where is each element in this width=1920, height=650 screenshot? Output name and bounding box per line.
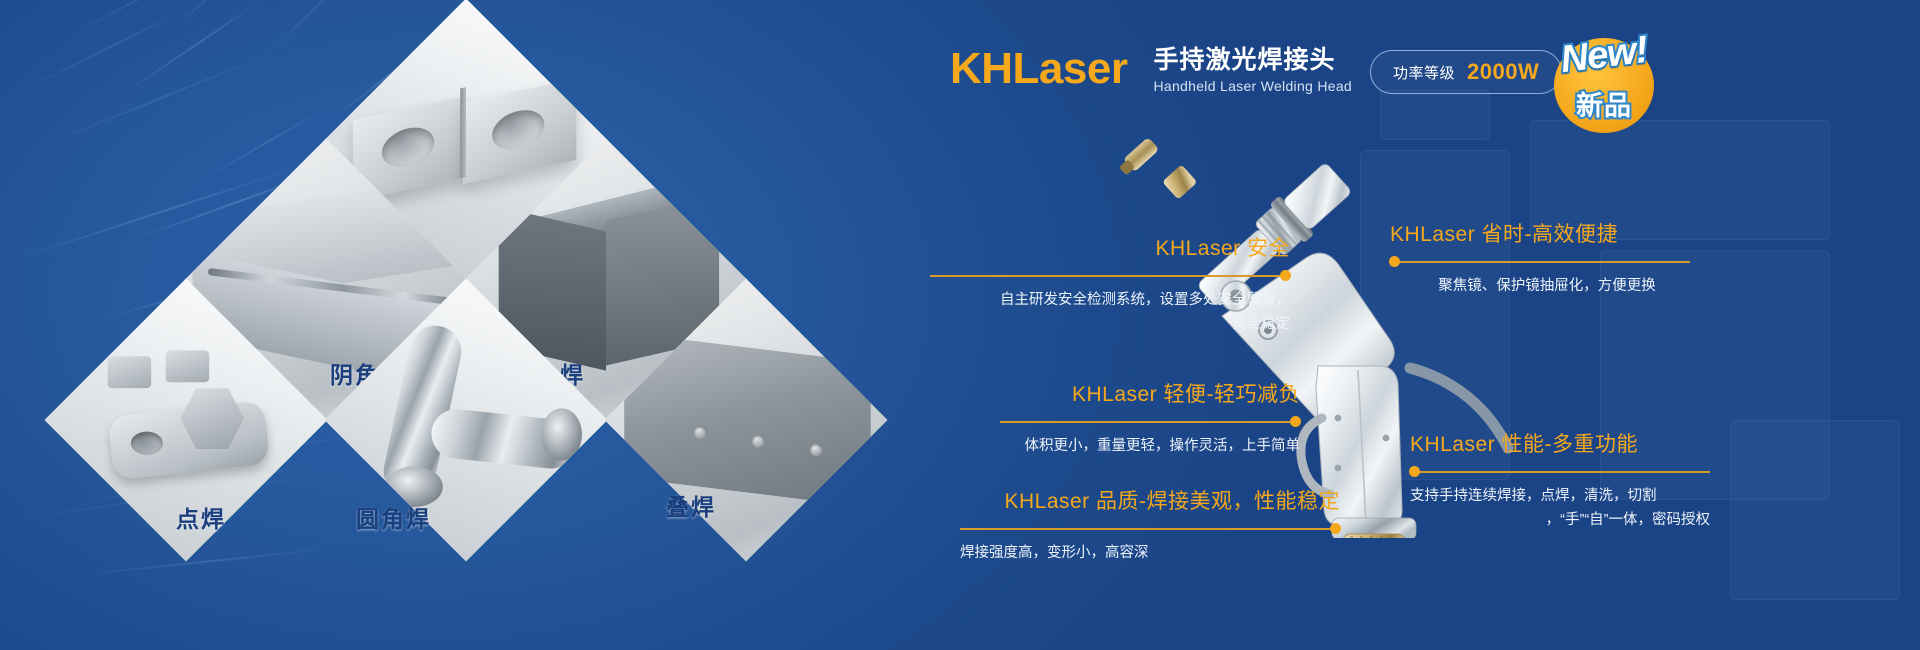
feature-safety-rule <box>930 269 1290 283</box>
weld-type-label-fillet-weld: 圆角焊 <box>356 500 431 534</box>
feature-performance-dot <box>1409 466 1420 477</box>
brand-header: KHLaser 手持激光焊接头 Handheld Laser Welding H… <box>950 44 1352 94</box>
feature-lightweight-title: KHLaser 轻便-轻巧减负 <box>1000 378 1300 408</box>
feature-performance-desc-line2: ，“手”“自”一体，密码授权 <box>1410 509 1710 533</box>
power-rating-value: 2000W <box>1467 59 1539 85</box>
new-badge-text-cn: 新品 <box>1548 84 1660 123</box>
feature-lightweight-dot <box>1290 416 1301 427</box>
product-subtitle: 手持激光焊接头 Handheld Laser Welding Head <box>1153 44 1352 94</box>
feature-performance-desc-line1: 支持手持连续焊接，点焊，清洗，切割 <box>1410 485 1710 509</box>
feature-safety-desc-line1: 自主研发安全检测系统，设置多处安全警报， <box>930 289 1290 313</box>
feature-performance-title: KHLaser 性能-多重功能 <box>1410 428 1710 458</box>
feature-quality: KHLaser 品质-焊接美观，性能稳定 焊接强度高，变形小，高容深 <box>960 485 1340 566</box>
feature-safety-title: KHLaser 安全 <box>930 232 1290 262</box>
feature-quality-rule <box>960 522 1340 536</box>
feature-safety: KHLaser 安全 自主研发安全检测系统，设置多处安全警报， 安全稳定 <box>930 232 1290 337</box>
feature-time-saving-title: KHLaser 省时-高效便捷 <box>1390 218 1690 248</box>
feature-safety-desc-line2: 安全稳定 <box>930 313 1290 337</box>
feature-quality-dot <box>1330 523 1341 534</box>
weld-type-label-lap-weld: 叠焊 <box>666 488 716 522</box>
product-title-cn: 手持激光焊接头 <box>1153 46 1352 75</box>
feature-time-saving-dot <box>1389 256 1400 267</box>
brand-logo-khlaser: KHLaser <box>950 44 1127 94</box>
product-banner: 对接焊 阴角焊 阳角焊 <box>0 0 1920 650</box>
weld-type-mosaic: 对接焊 阴角焊 阳角焊 <box>118 30 818 620</box>
feature-quality-desc-line1: 焊接强度高，变形小，高容深 <box>960 542 1340 566</box>
weld-type-label-spot-weld: 点焊 <box>176 500 226 534</box>
feature-time-saving-rule <box>1390 255 1690 269</box>
new-product-badge: New! 新品 <box>1548 28 1660 140</box>
feature-performance: KHLaser 性能-多重功能 支持手持连续焊接，点焊，清洗，切割 ，“手”“自… <box>1410 428 1710 533</box>
feature-lightweight-rule <box>1000 415 1300 429</box>
feature-lightweight: KHLaser 轻便-轻巧减负 体积更小，重量更轻，操作灵活，上手简单 <box>1000 378 1300 459</box>
feature-lightweight-desc-line1: 体积更小，重量更轻，操作灵活，上手简单 <box>1000 435 1300 459</box>
feature-safety-dot <box>1280 270 1291 281</box>
feature-performance-rule <box>1410 465 1710 479</box>
product-title-en: Handheld Laser Welding Head <box>1153 78 1352 94</box>
feature-time-saving-desc-line1: 聚焦镜、保护镜抽屉化，方便更换 <box>1390 275 1690 299</box>
power-rating-badge: 功率等级 2000W <box>1370 50 1562 94</box>
power-rating-label: 功率等级 <box>1393 62 1455 83</box>
feature-time-saving: KHLaser 省时-高效便捷 聚焦镜、保护镜抽屉化，方便更换 <box>1390 218 1690 299</box>
feature-quality-title: KHLaser 品质-焊接美观，性能稳定 <box>960 485 1340 515</box>
